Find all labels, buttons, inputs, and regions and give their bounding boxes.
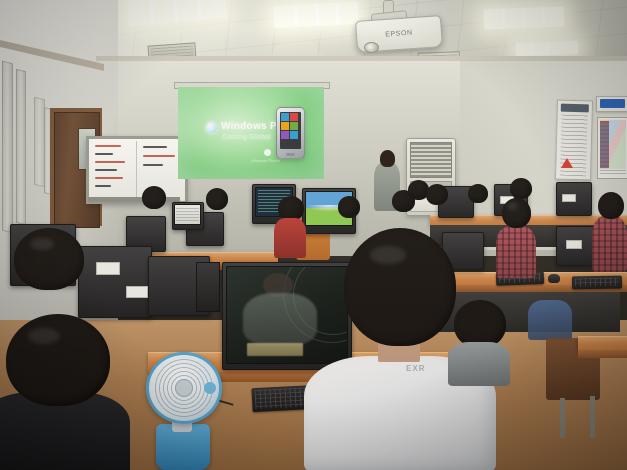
whiteboard-writing [95,177,123,179]
phone-tile [281,131,289,139]
whiteboard-divider [136,141,137,199]
keyboard-middle-right-2[interactable] [572,276,622,290]
fluorescent-light-3 [484,7,565,30]
hair-highlight [30,238,54,250]
phone-tile [281,122,289,130]
whiteboard-writing [143,164,163,166]
student-body-plaid-1 [496,226,536,278]
evacuation-map-poster [597,117,627,179]
phone-tile [281,113,289,121]
safety-notice-sheet [555,100,593,181]
whiteboard-writing [95,153,113,155]
chair-leg [560,398,565,438]
monitor-asset-label [96,262,120,275]
fluorescent-light-2 [273,2,358,28]
whiteboard [86,136,188,204]
phone-home-button [286,153,294,156]
projection-badge-icon [264,149,271,156]
desk-right-corner-edge [578,350,627,358]
notice-header-band [600,99,625,108]
phone-tile [290,131,298,139]
student-head-back-3 [468,184,488,203]
phone-tile [290,122,298,130]
notice-header-band [561,104,589,113]
monitor-left-foreground-2 [78,246,152,318]
projection-subtitle: Coming Global [222,134,271,141]
whiteboard-tray [88,197,180,202]
wall-panel-strip-2 [16,69,26,225]
projection-badge-label: Windows Phone [251,158,280,163]
ac-grill [410,142,452,178]
pc-tower-left [196,262,220,312]
whiteboard-writing [95,185,111,187]
phone-device-render [276,107,305,159]
instructor-head [380,150,395,167]
whiteboard-writing [95,169,117,171]
fan-hub [175,379,193,397]
student-head-mid-6 [426,184,448,205]
projection-screen: Windows Phone Coming Global Windows Phon… [178,87,324,179]
student-head-mid-5 [392,190,415,212]
chair-leg [590,396,595,438]
fan-pivot-knob[interactable] [204,382,216,394]
student-head-behind-white [454,300,506,348]
reflected-person [243,293,317,345]
fluorescent-light-4 [516,41,578,56]
monitor-reflection [226,266,348,364]
student-body-behind-white [448,342,510,386]
student-head-back-1 [510,178,532,199]
shirt-shoulder-logo: EXR [406,364,425,373]
desk-right-corner [578,336,627,351]
map-legend [600,121,609,168]
student-body-mid-1 [274,218,306,258]
student-body-right-foreground [528,300,572,340]
student-head-mid-3 [206,188,228,210]
whiteboard-writing [95,145,121,147]
monitor-browser [174,204,201,225]
student-foreground-white-shirt-head [344,228,456,346]
projector-brand-label: EPSON [357,28,441,41]
projector-lens [364,42,379,53]
hair-highlight [370,246,406,264]
classroom-photo: EPSON [0,0,627,470]
student-head-mid-2 [142,186,166,209]
whiteboard-writing [95,161,125,163]
wall-panel-strip-1 [2,61,13,234]
student-foreground-left-head-2 [14,228,84,290]
monitor-asset-label [566,240,582,249]
student-head-mid-4 [338,196,360,218]
student-body-plaid-2 [592,216,627,272]
evacuation-notice-sheet [596,96,627,112]
map-caption-lines [600,170,626,176]
warning-triangle-icon [561,158,573,168]
whiteboard-writing [143,146,167,148]
student-head-plaid-2 [598,192,624,219]
monitor-asset-label [562,194,576,202]
hair-highlight [507,202,518,210]
student-head-plaid-1 [502,198,531,228]
reflected-notebook [247,343,303,356]
crown-molding-back [96,56,627,61]
windows-phone-logo-icon [206,122,217,133]
hair-highlight [28,328,60,344]
phone-screen [280,112,301,149]
phone-tile [290,113,298,121]
monitor-asset-label [126,286,148,298]
student-foreground-left-head [6,314,110,406]
whiteboard-writing [143,155,175,157]
mouse-middle-right[interactable] [548,274,560,283]
